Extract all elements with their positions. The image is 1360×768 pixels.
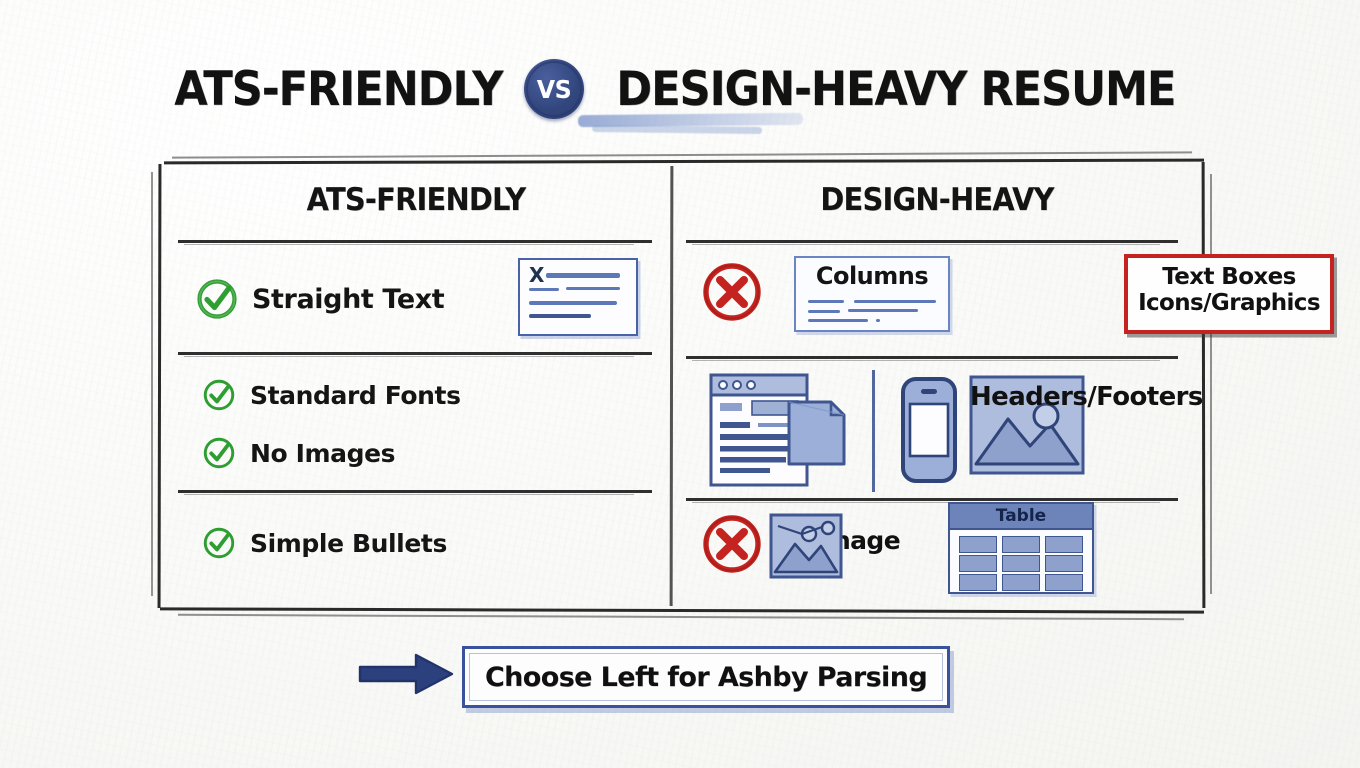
frame-border-right-ghost xyxy=(1210,174,1212,594)
panel-left-rule-2 xyxy=(178,352,652,355)
title-right-text: DESIGN-HEAVY RESUME xyxy=(617,62,1176,117)
list-item-label: Simple Bullets xyxy=(250,529,447,558)
list-item-no-images: No Images xyxy=(202,436,395,470)
right-arrow-icon xyxy=(358,650,454,698)
mobile-phone-icon xyxy=(900,376,958,489)
vs-badge: VS xyxy=(524,59,584,119)
panel-right-rule-2 xyxy=(686,356,1178,359)
green-check-icon xyxy=(202,526,236,560)
panel-right-heading: DESIGN-HEAVY xyxy=(694,182,1179,218)
panel-divider xyxy=(670,166,673,606)
panel-left-rule-3 xyxy=(178,490,652,493)
document-lines-icon: X xyxy=(518,258,638,336)
columns-box-label: Columns xyxy=(796,262,948,290)
list-item-label: No Images xyxy=(250,439,395,468)
list-item-label: Standard Fonts xyxy=(250,381,461,410)
table-icon: Table xyxy=(948,502,1094,594)
panel-right-rule-1 xyxy=(686,240,1178,243)
folder-page-icon xyxy=(786,398,848,473)
text-boxes-warning-box: Text Boxes Icons/Graphics xyxy=(1124,254,1334,334)
green-check-icon xyxy=(202,436,236,470)
frame-border-left-ghost xyxy=(151,172,153,596)
list-item-standard-fonts: Standard Fonts xyxy=(202,378,461,412)
panel-right-rule-3 xyxy=(686,498,1178,501)
title-left-text: ATS-FRIENDLY xyxy=(174,62,502,117)
callout-text: Choose Left for Ashby Parsing xyxy=(465,649,947,705)
text-boxes-line-1: Text Boxes xyxy=(1128,264,1330,290)
table-header-label: Table xyxy=(950,504,1092,528)
list-item-label: Straight Text xyxy=(252,284,444,315)
list-item-simple-bullets: Simple Bullets xyxy=(202,526,447,560)
list-item-straight-text: Straight Text xyxy=(196,278,444,320)
callout-box: Choose Left for Ashby Parsing xyxy=(462,646,950,708)
red-cross-icon xyxy=(700,512,764,576)
headers-footers-label: Headers/Footers xyxy=(970,382,1203,412)
panel-left-heading: ATS-FRIENDLY xyxy=(184,182,649,218)
vs-badge-label: VS xyxy=(526,59,583,119)
columns-box: Columns xyxy=(794,256,950,332)
green-check-icon xyxy=(196,278,238,320)
green-check-icon xyxy=(202,378,236,412)
image-mountain-icon xyxy=(768,512,844,585)
panel-design-heavy: DESIGN-HEAVY Columns Text Boxes Icons/Gr… xyxy=(676,160,1198,612)
document-x-mark: X xyxy=(529,265,544,285)
frame-border-left xyxy=(158,164,162,608)
panel-left-rule-1 xyxy=(178,240,652,243)
comparison-frame: ATS-FRIENDLY Straight Text X xyxy=(158,160,1206,612)
panel-ats-friendly: ATS-FRIENDLY Straight Text X xyxy=(166,160,666,612)
vertical-separator xyxy=(872,370,875,492)
red-cross-icon xyxy=(700,260,764,324)
text-boxes-line-2: Icons/Graphics xyxy=(1128,290,1330,316)
